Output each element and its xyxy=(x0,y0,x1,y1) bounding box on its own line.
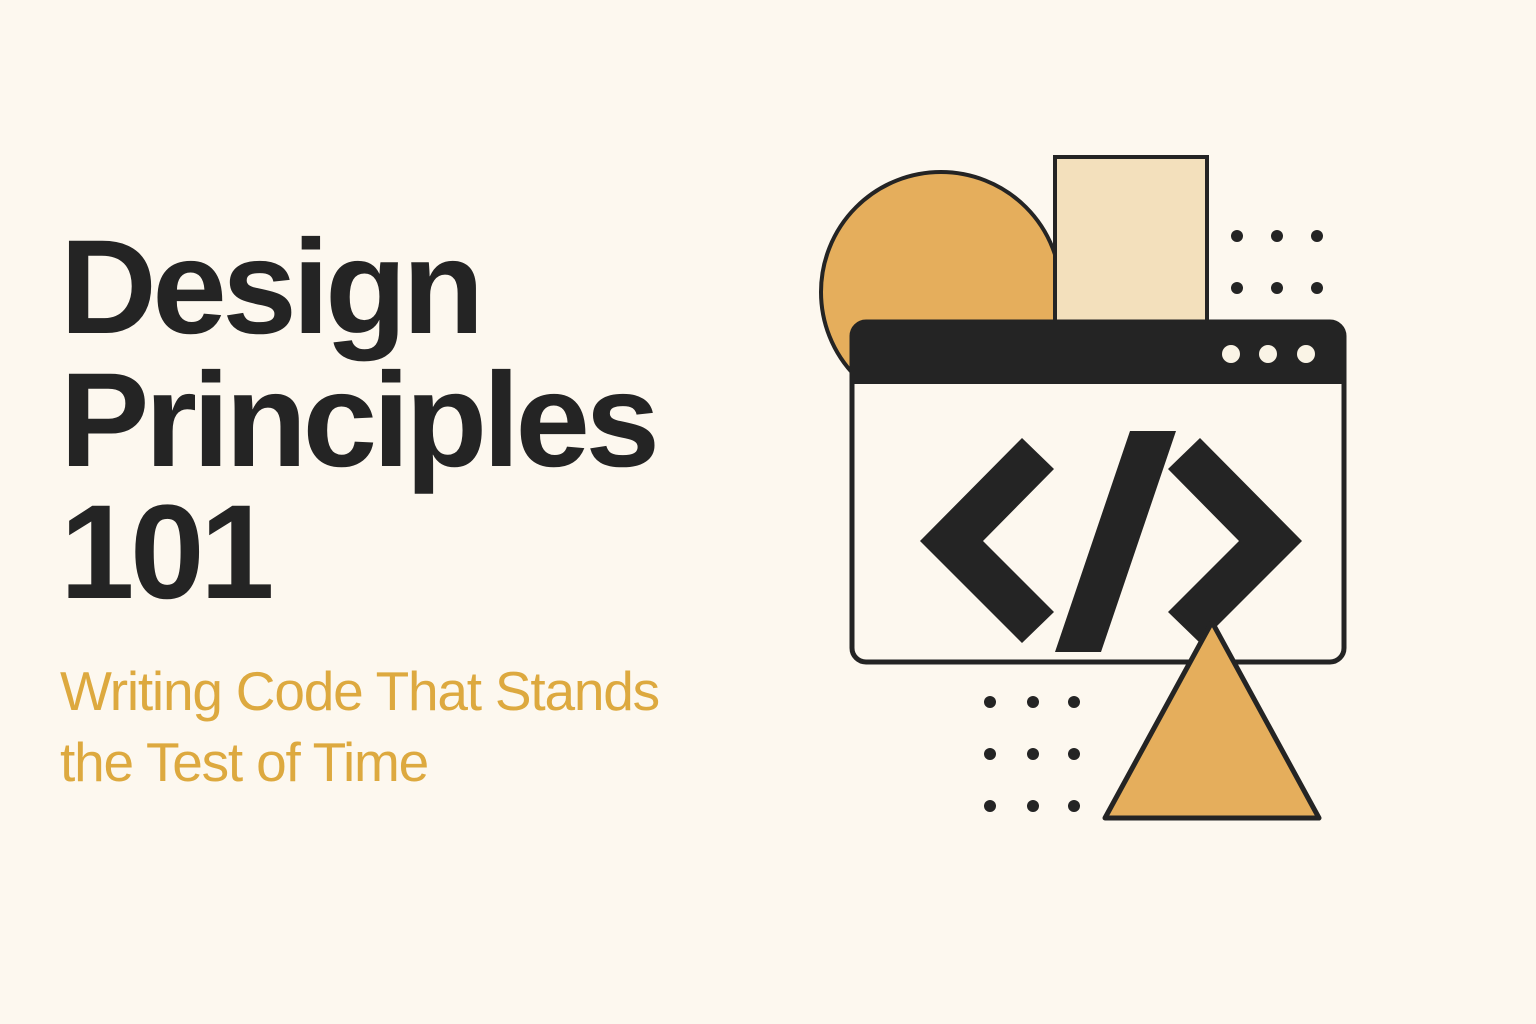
window-dot-2 xyxy=(1259,345,1277,363)
grid-dot xyxy=(1027,696,1039,708)
page-title: Design Principles 101 xyxy=(60,222,820,620)
beige-card xyxy=(1055,157,1207,325)
grid-dot xyxy=(1311,230,1323,242)
grid-dot xyxy=(1271,230,1283,242)
grid-dot xyxy=(1231,282,1243,294)
text-block: Design Principles 101 Writing Code That … xyxy=(60,222,820,799)
dot-grid-bottom-left xyxy=(984,696,1080,812)
page-subtitle: Writing Code That Stands the Test of Tim… xyxy=(60,620,820,799)
grid-dot xyxy=(1068,748,1080,760)
grid-dot xyxy=(1231,230,1243,242)
illustration-svg xyxy=(800,130,1400,870)
dot-grid-top-right xyxy=(1231,230,1323,294)
window-dot-1 xyxy=(1222,345,1240,363)
grid-dot xyxy=(1068,800,1080,812)
poster-canvas: Design Principles 101 Writing Code That … xyxy=(0,0,1536,1024)
grid-dot xyxy=(984,800,996,812)
grid-dot xyxy=(1068,696,1080,708)
grid-dot xyxy=(1311,282,1323,294)
grid-dot xyxy=(984,748,996,760)
grid-dot xyxy=(1027,748,1039,760)
window-control-dots[interactable] xyxy=(1222,345,1315,363)
grid-dot xyxy=(984,696,996,708)
code-window-illustration xyxy=(800,130,1400,870)
window-dot-3 xyxy=(1297,345,1315,363)
grid-dot xyxy=(1027,800,1039,812)
grid-dot xyxy=(1271,282,1283,294)
